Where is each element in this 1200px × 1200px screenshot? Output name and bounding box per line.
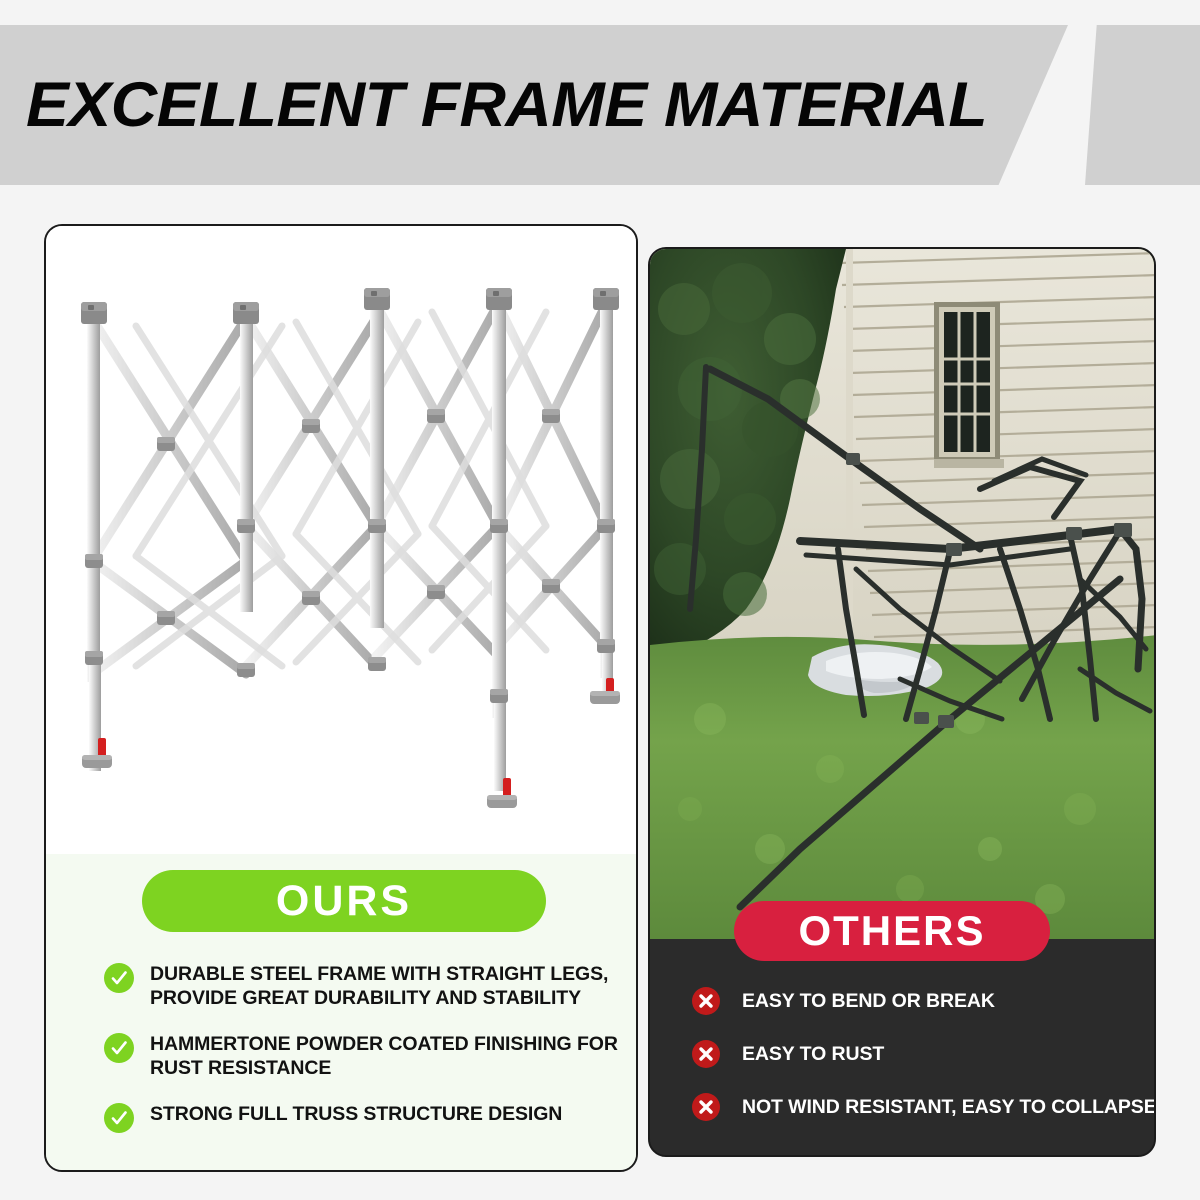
ours-badge-label: OURS bbox=[276, 877, 412, 926]
x-circle-icon bbox=[692, 1093, 720, 1121]
others-item-label: NOT WIND RESISTANT, EASY TO COLLAPSE bbox=[742, 1096, 1156, 1119]
others-product-photo bbox=[650, 249, 1154, 939]
check-circle-icon bbox=[104, 963, 134, 993]
check-circle-icon bbox=[104, 1033, 134, 1063]
page-title: EXCELLENT FRAME MATERIAL bbox=[26, 70, 1056, 140]
collapsed-frame-photo-illustration bbox=[650, 249, 1154, 939]
others-item-label: EASY TO RUST bbox=[742, 1043, 884, 1066]
ours-badge: OURS bbox=[142, 870, 546, 932]
ours-panel: OURS DURABLE STEEL FRAME WITH STRAIGHT L… bbox=[44, 224, 638, 1172]
x-circle-icon bbox=[692, 987, 720, 1015]
header-banner: EXCELLENT FRAME MATERIAL bbox=[0, 25, 1200, 185]
list-item: EASY TO BEND OR BREAK bbox=[692, 987, 1152, 1015]
header-band-accent bbox=[1085, 25, 1200, 185]
list-item: DURABLE STEEL FRAME WITH STRAIGHT LEGS, … bbox=[104, 962, 624, 1010]
others-feature-list: EASY TO BEND OR BREAK EASY TO RUST NOT W… bbox=[692, 987, 1152, 1146]
list-item: HAMMERTONE POWDER COATED FINISHING FOR R… bbox=[104, 1032, 624, 1080]
ours-item-label: HAMMERTONE POWDER COATED FINISHING FOR R… bbox=[150, 1032, 624, 1080]
others-badge: OTHERS bbox=[734, 901, 1050, 961]
ours-text-zone: OURS DURABLE STEEL FRAME WITH STRAIGHT L… bbox=[46, 854, 636, 1172]
ours-feature-list: DURABLE STEEL FRAME WITH STRAIGHT LEGS, … bbox=[104, 962, 624, 1155]
check-circle-icon bbox=[104, 1103, 134, 1133]
x-circle-icon bbox=[692, 1040, 720, 1068]
canopy-frame-illustration bbox=[46, 226, 636, 854]
ours-item-label: DURABLE STEEL FRAME WITH STRAIGHT LEGS, … bbox=[150, 962, 624, 1010]
others-item-label: EASY TO BEND OR BREAK bbox=[742, 990, 995, 1013]
list-item: NOT WIND RESISTANT, EASY TO COLLAPSE bbox=[692, 1093, 1152, 1121]
list-item: STRONG FULL TRUSS STRUCTURE DESIGN bbox=[104, 1102, 624, 1133]
others-panel: OTHERS EASY TO BEND OR BREAK EASY TO RUS… bbox=[648, 247, 1156, 1157]
ours-item-label: STRONG FULL TRUSS STRUCTURE DESIGN bbox=[150, 1102, 562, 1126]
list-item: EASY TO RUST bbox=[692, 1040, 1152, 1068]
ours-product-photo bbox=[46, 226, 636, 854]
others-badge-label: OTHERS bbox=[798, 907, 985, 955]
